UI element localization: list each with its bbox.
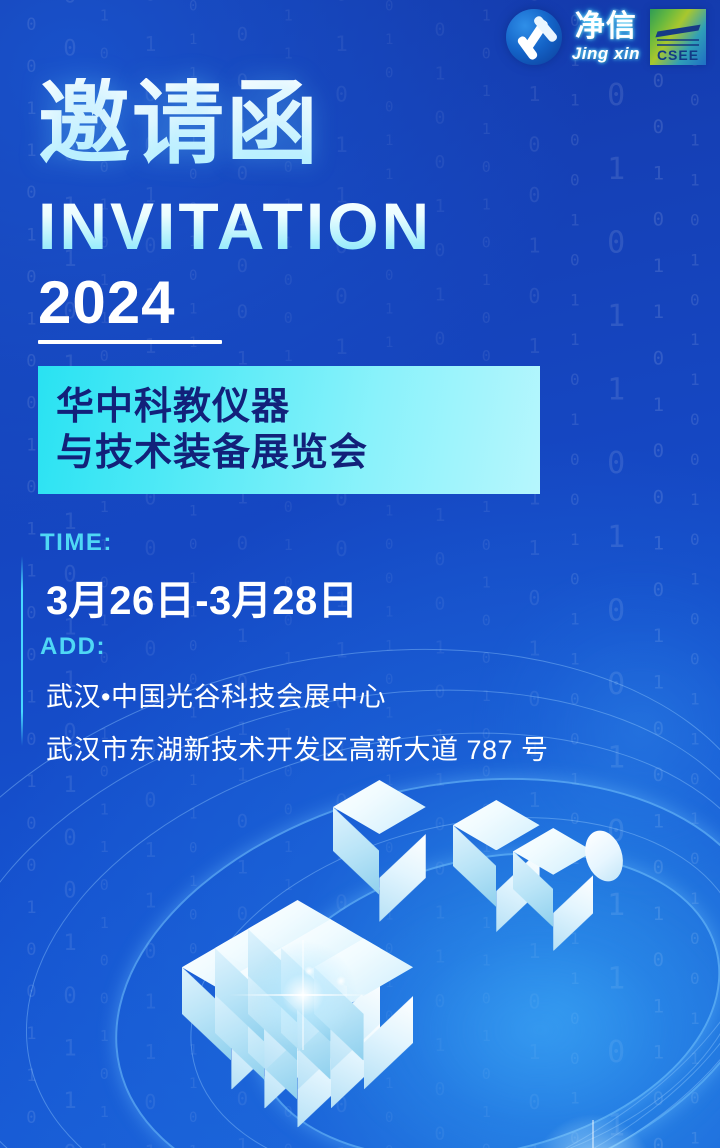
address-line-2: 武汉市东湖新技术开发区高新大道 787 号 — [46, 728, 549, 767]
event-name-line-2: 与技术装备展览会 — [56, 430, 540, 476]
page-title-year: 2024 — [38, 273, 175, 333]
page-title-cn: 邀请函 — [38, 78, 320, 170]
jingxin-en-text: Jing xin — [572, 45, 640, 62]
year-underline-rule — [38, 340, 222, 344]
address-line-1: 武汉•中国光谷科技会展中心 — [46, 675, 386, 714]
event-name-line-1: 华中科教仪器 — [56, 384, 540, 430]
event-name-band: 华中科教仪器 与技术装备展览会 — [38, 366, 540, 494]
address-label: ADD: — [40, 633, 106, 661]
jingxin-wordmark: 净信 Jing xin — [572, 12, 640, 62]
csee-logo-icon: CSEE — [650, 9, 706, 65]
jingxin-mark-icon — [506, 9, 562, 65]
header-logo-bar: 净信 Jing xin CSEE — [506, 9, 706, 65]
page-title-en: INVITATION — [38, 193, 432, 259]
time-label: TIME: — [40, 529, 113, 557]
invitation-poster: 0 1 0 0 1 1 0 1 0 1 0 0 1 0 1 1 0 0 1 0 … — [0, 0, 720, 1148]
jingxin-cn-text: 净信 — [575, 12, 637, 42]
csee-logo-text: CSEE — [650, 47, 706, 63]
info-accent-line — [21, 556, 23, 746]
time-value: 3月26日-3月28日 — [46, 568, 358, 626]
